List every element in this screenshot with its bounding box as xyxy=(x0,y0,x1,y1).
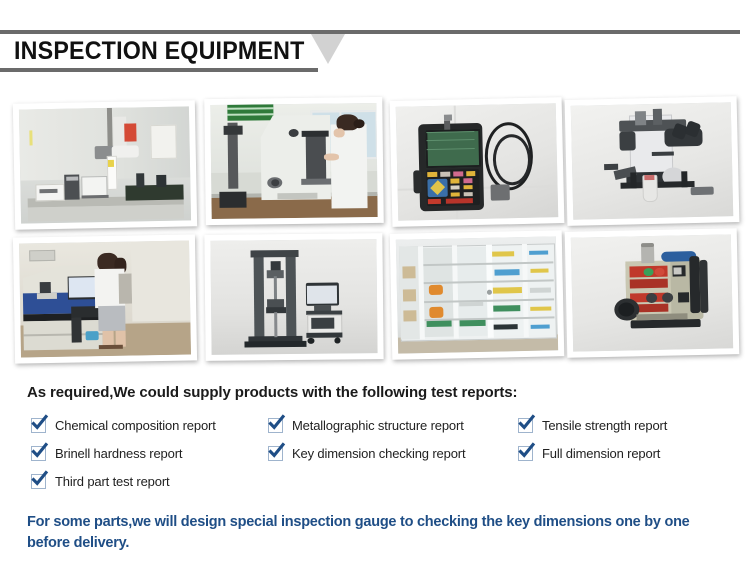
photo-image-metallurgical-microscope xyxy=(571,102,734,220)
photo-card-universal-tensile-testing-machine[interactable] xyxy=(204,233,383,361)
photo-card-sample-storage-cabinets[interactable] xyxy=(390,230,565,360)
footer-note: For some parts,we will design special in… xyxy=(27,512,717,554)
checklist-item-label: Brinell hardness report xyxy=(55,446,182,461)
checklist-item-chemical-composition-report[interactable]: Chemical composition report xyxy=(31,418,216,433)
checkmark-icon xyxy=(31,446,46,461)
checklist-item-third-part-test-report[interactable]: Third part test report xyxy=(31,474,169,489)
checkmark-icon xyxy=(518,446,533,461)
photo-image-ultrasonic-flaw-detector xyxy=(396,103,559,221)
checklist-item-metallographic-structure-report[interactable]: Metallographic structure report xyxy=(268,418,464,433)
checklist-item-label: Tensile strength report xyxy=(542,418,667,433)
checklist-item-label: Metallographic structure report xyxy=(292,418,464,433)
photo-image-sample-storage-cabinets xyxy=(396,236,558,353)
checklist-item-brinell-hardness-report[interactable]: Brinell hardness report xyxy=(31,446,182,461)
photo-image-universal-tensile-testing-machine xyxy=(210,239,377,355)
checkmark-icon xyxy=(518,418,533,433)
checkmark-icon xyxy=(268,446,283,461)
photo-card-spectrometer-analysis-station[interactable] xyxy=(13,234,197,363)
checklist-item-label: Third part test report xyxy=(55,474,169,489)
checklist-item-label: Chemical composition report xyxy=(55,418,216,433)
page-title: INSPECTION EQUIPMENT xyxy=(14,33,305,69)
photo-image-portable-spectrometer-unit xyxy=(571,234,733,351)
checklist-item-full-dimension-report[interactable]: Full dimension report xyxy=(518,446,660,461)
photo-image-spectrometer-analysis-station xyxy=(19,241,191,358)
page-header: INSPECTION EQUIPMENT xyxy=(0,30,750,76)
photo-card-cmm-coordinate-measuring-machine[interactable] xyxy=(13,100,197,229)
checklist-item-label: Full dimension report xyxy=(542,446,660,461)
photo-card-metallurgical-microscope[interactable] xyxy=(565,96,740,226)
photo-card-portable-spectrometer-unit[interactable] xyxy=(565,228,740,358)
checkmark-icon xyxy=(268,418,283,433)
checkmark-icon xyxy=(31,418,46,433)
checkmark-icon xyxy=(31,474,46,489)
checklist-item-tensile-strength-report[interactable]: Tensile strength report xyxy=(518,418,667,433)
checklist-item-key-dimension-checking-report[interactable]: Key dimension checking report xyxy=(268,446,465,461)
reports-heading: As required,We could supply products wit… xyxy=(27,384,517,401)
photo-image-rockwell-hardness-tester-operator xyxy=(210,103,377,219)
photo-card-rockwell-hardness-tester-operator[interactable] xyxy=(204,97,384,225)
equipment-photo-gallery xyxy=(0,86,750,378)
checklist-item-label: Key dimension checking report xyxy=(292,446,465,461)
photo-image-cmm-coordinate-measuring-machine xyxy=(19,106,191,223)
photo-card-ultrasonic-flaw-detector[interactable] xyxy=(390,97,565,227)
